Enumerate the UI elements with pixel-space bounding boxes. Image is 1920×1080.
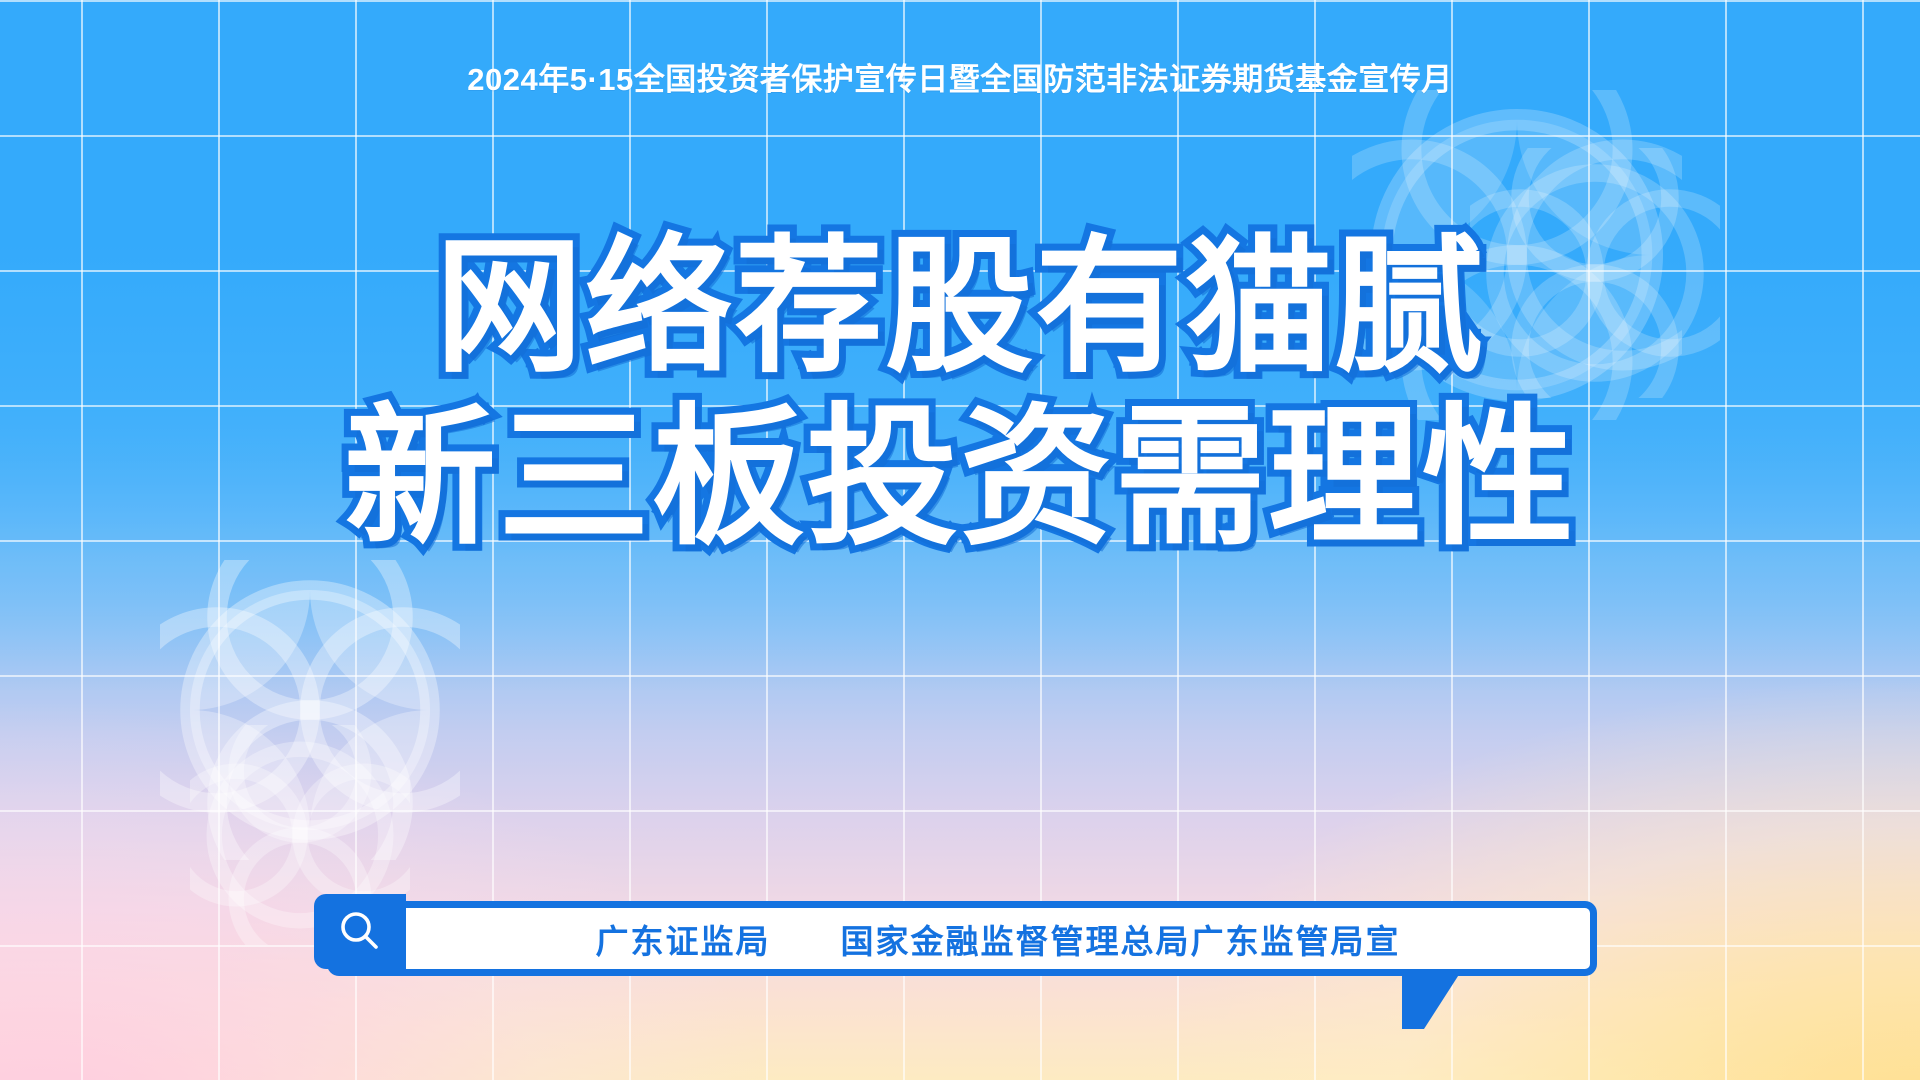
headline-line-2-text: 新三板投资需理性 (344, 394, 1576, 562)
attribution-banner: 广东证监局 国家金融监督管理总局广东监管局宣 (327, 901, 1597, 976)
banner-tail (1402, 973, 1460, 1029)
poster-canvas: 2024年5·15全国投资者保护宣传日暨全国防范非法证券期货基金宣传月 网络荐股… (0, 0, 1920, 1080)
search-icon-glyph (336, 908, 384, 956)
search-icon (314, 894, 406, 969)
headline-line-1: 网络荐股有猫腻 (0, 228, 1920, 388)
headline-line-2: 新三板投资需理性 (0, 394, 1920, 562)
campaign-header: 2024年5·15全国投资者保护宣传日暨全国防范非法证券期货基金宣传月 (0, 60, 1920, 100)
headline-line-1-text: 网络荐股有猫腻 (435, 228, 1485, 388)
banner-organization-text: 广东证监局 国家金融监督管理总局广东监管局宣 (334, 915, 1590, 963)
campaign-header-text: 2024年5·15全国投资者保护宣传日暨全国防范非法证券期货基金宣传月 (467, 60, 1453, 100)
headline-block: 网络荐股有猫腻 新三板投资需理性 (0, 228, 1920, 562)
banner-box: 广东证监局 国家金融监督管理总局广东监管局宣 (327, 901, 1597, 976)
